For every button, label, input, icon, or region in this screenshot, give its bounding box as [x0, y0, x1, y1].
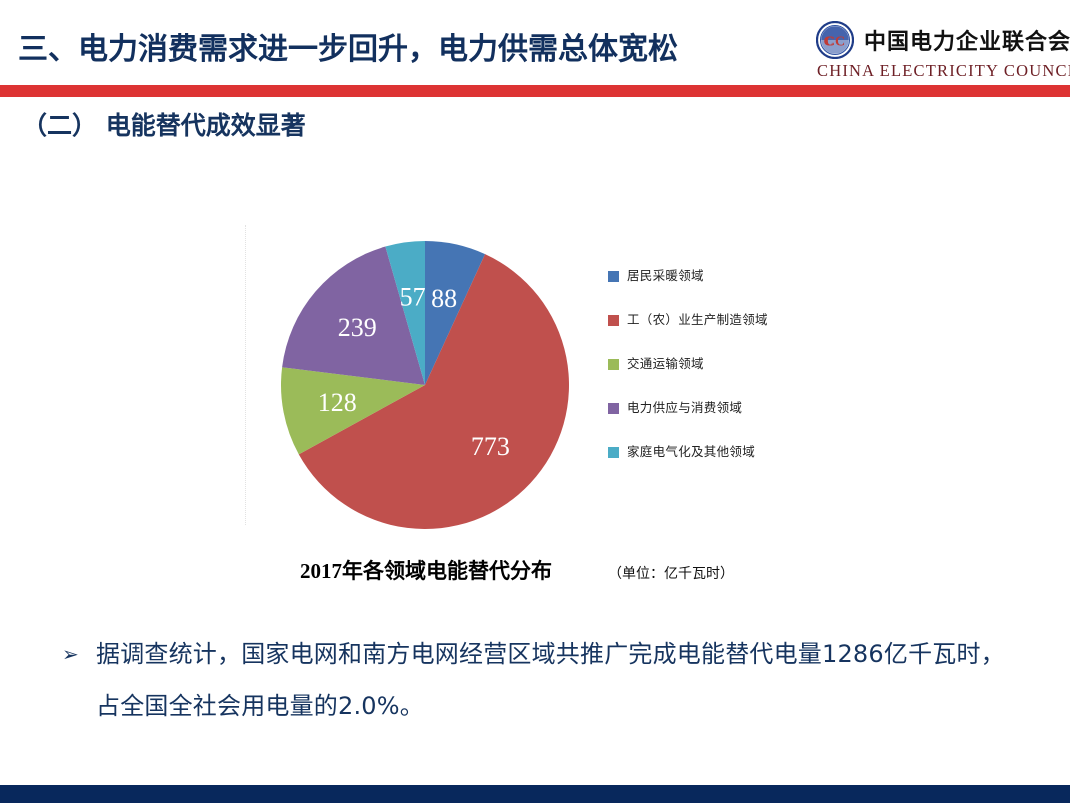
logo-english-name: CHINA ELECTRICITY COUNCIL	[817, 61, 1064, 81]
pie-data-label: 57	[400, 283, 426, 312]
pie-data-label: 239	[338, 313, 377, 342]
pie-data-label: 88	[431, 284, 457, 313]
bullet-body-text: 据调查统计，国家电网和南方电网经营区域共推广完成电能替代电量1286亿千瓦时，占…	[96, 628, 1012, 732]
legend-label: 电力供应与消费领域	[627, 399, 742, 417]
logo-chinese-name: 中国电力企业联合会	[864, 24, 1070, 56]
legend-item: 工（农）业生产制造领域	[608, 311, 798, 339]
legend-item: 家庭电气化及其他领域	[608, 443, 798, 471]
slide-canvas: 三、电力消费需求进一步回升，电力供需总体宽松 CC C 中国电力企业联合会 CH…	[0, 0, 1070, 803]
organization-logo: CC C 中国电力企业联合会 CHINA ELECTRICITY COUNCIL	[816, 20, 1064, 82]
bullet-arrow-icon: ➢	[62, 628, 96, 680]
page-title: 三、电力消费需求进一步回升，电力供需总体宽松	[18, 24, 678, 68]
legend-item: 电力供应与消费领域	[608, 399, 798, 427]
chart-caption-unit: （单位：亿千瓦时）	[608, 563, 734, 583]
section-heading: （二） 电能替代成效显著	[22, 106, 306, 142]
legend-item: 交通运输领域	[608, 355, 798, 383]
header-divider-rule	[0, 85, 1070, 97]
legend-item: 居民采暖领域	[608, 267, 798, 295]
pie-chart-graphic: 8877312823957	[275, 235, 575, 535]
plot-area-border	[245, 225, 246, 525]
legend-label: 工（农）业生产制造领域	[627, 311, 768, 329]
svg-text:C: C	[823, 35, 833, 50]
footer-bar	[0, 785, 1070, 803]
chart-legend: 居民采暖领域 工（农）业生产制造领域 交通运输领域 电力供应与消费领域 家庭电气…	[608, 267, 798, 487]
legend-swatch	[608, 403, 619, 414]
pie-data-label: 128	[318, 388, 357, 417]
legend-swatch	[608, 359, 619, 370]
chart-caption-title: 2017年各领域电能替代分布	[300, 555, 552, 585]
cec-emblem-icon: CC C	[816, 21, 854, 59]
legend-label: 居民采暖领域	[627, 267, 704, 285]
legend-swatch	[608, 271, 619, 282]
pie-chart: 8877312823957 居民采暖领域 工（农）业生产制造领域 交通运输领域 …	[240, 225, 800, 545]
chart-caption: 2017年各领域电能替代分布 （单位：亿千瓦时）	[300, 555, 734, 585]
logo-row: CC C 中国电力企业联合会	[816, 20, 1064, 60]
legend-label: 家庭电气化及其他领域	[627, 443, 755, 461]
bullet-paragraph: ➢ 据调查统计，国家电网和南方电网经营区域共推广完成电能替代电量1286亿千瓦时…	[62, 628, 1012, 732]
legend-swatch	[608, 447, 619, 458]
legend-swatch	[608, 315, 619, 326]
pie-data-label: 773	[471, 432, 510, 461]
legend-label: 交通运输领域	[627, 355, 704, 373]
